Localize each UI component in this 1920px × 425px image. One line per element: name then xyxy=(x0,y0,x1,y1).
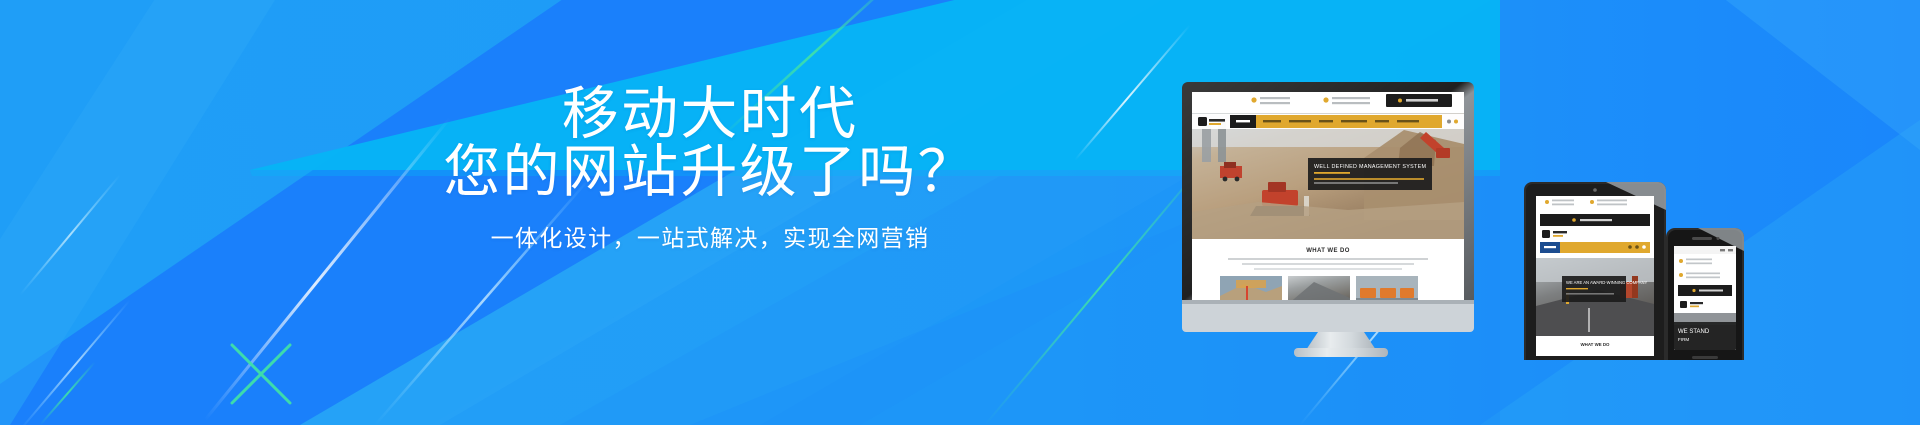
monitor-stand-neck xyxy=(1306,332,1376,350)
site-logo-sub xyxy=(1690,306,1699,308)
site-nav-item[interactable] xyxy=(1263,120,1281,122)
site-nav-item[interactable] xyxy=(1289,120,1311,122)
monitor-stand-base xyxy=(1294,348,1388,357)
site-logo-text xyxy=(1553,231,1567,233)
section-title: WHAT WE DO xyxy=(1306,248,1350,254)
hero-dozer-cab xyxy=(1268,182,1286,192)
topbar-phone-1 xyxy=(1260,97,1290,99)
topbar-hours-1 xyxy=(1332,97,1370,99)
hero-title: WE ARE AN AWARD-WINNING COMPANY xyxy=(1566,280,1647,285)
desktop-monitor: WELL DEFINED MANAGEMENT SYSTEM xyxy=(1182,82,1474,357)
site-logo-mark xyxy=(1542,230,1550,238)
hero-subtitle-2 xyxy=(1314,182,1398,184)
hero-subtitle xyxy=(1566,293,1614,295)
phone-icon xyxy=(1679,259,1683,263)
tablet-screen-content: WE ARE AN AWARD-WINNING COMPANY WHAT WE … xyxy=(1536,196,1654,356)
section-body-line xyxy=(1254,268,1402,270)
site-nav-home-label xyxy=(1236,120,1250,122)
phone-speaker-icon xyxy=(1692,237,1712,240)
hero-title: WELL DEFINED MANAGEMENT SYSTEM xyxy=(1314,164,1427,170)
quote-icon xyxy=(1398,99,1402,103)
section-body-line xyxy=(1242,263,1414,265)
clock-icon xyxy=(1679,273,1683,277)
topbar-phone-1 xyxy=(1552,200,1574,202)
tablet-camera-icon xyxy=(1593,188,1597,192)
section-body-line xyxy=(1228,258,1428,260)
request-quote-label xyxy=(1580,219,1612,221)
phone-camera-icon xyxy=(1717,237,1720,240)
signal-icon xyxy=(1720,249,1725,251)
mobile-phone: WE STAND FIRM xyxy=(1666,228,1744,360)
site-nav-item[interactable] xyxy=(1319,120,1333,122)
topbar-hours-1 xyxy=(1686,273,1720,275)
site-logo-text xyxy=(1209,119,1225,122)
section-card-accent xyxy=(1236,280,1266,288)
section-card-machine xyxy=(1380,288,1396,298)
promo-banner: 移动大时代 您的网站升级了吗？ 一体化设计，一站式解决，实现全网营销 xyxy=(0,0,1920,425)
phone-icon xyxy=(1545,200,1549,204)
hero-truck-bed xyxy=(1224,162,1236,168)
monitor-chin-edge xyxy=(1182,300,1474,304)
cart-icon[interactable] xyxy=(1642,245,1646,249)
quote-icon xyxy=(1692,289,1695,292)
topbar-hours-2 xyxy=(1686,277,1720,279)
hero-excavator-body xyxy=(1436,148,1450,158)
hero-title-underline xyxy=(1566,288,1588,289)
site-nav-item[interactable] xyxy=(1341,120,1367,122)
hero-title: WE STAND xyxy=(1678,329,1710,335)
device-mockup-illustration: WELL DEFINED MANAGEMENT SYSTEM xyxy=(1168,70,1908,360)
clock-icon xyxy=(1590,200,1594,204)
section-title: WHAT WE DO xyxy=(1581,342,1611,347)
quote-icon xyxy=(1572,218,1576,222)
site-logo-mark xyxy=(1680,301,1687,308)
hero-caption-card xyxy=(1674,322,1736,350)
phone-home-button[interactable] xyxy=(1692,356,1718,359)
search-icon[interactable] xyxy=(1628,245,1632,249)
site-nav-item[interactable] xyxy=(1397,120,1419,122)
hero-road-line xyxy=(1588,308,1590,332)
monitor-screen-content: WELL DEFINED MANAGEMENT SYSTEM xyxy=(1192,92,1464,304)
topbar-hours-1 xyxy=(1597,200,1627,202)
topbar-phone-2 xyxy=(1686,263,1712,265)
section-card-machine xyxy=(1360,288,1376,298)
monitor-chin xyxy=(1182,300,1474,332)
site-nav-item[interactable] xyxy=(1375,120,1389,122)
topbar-hours-2 xyxy=(1332,102,1370,104)
site-logo-mark xyxy=(1198,117,1207,126)
tablet-home-area xyxy=(1526,356,1664,360)
site-logo-text xyxy=(1690,302,1703,304)
phone-statusbar xyxy=(1674,246,1736,254)
topbar-phone-1 xyxy=(1686,259,1712,261)
search-icon[interactable] xyxy=(1447,120,1451,124)
site-logo-sub xyxy=(1553,235,1563,237)
site-logo-sub xyxy=(1209,123,1221,125)
menu-icon[interactable] xyxy=(1635,245,1639,249)
site-nav-home-label xyxy=(1544,246,1556,248)
hero-subtitle xyxy=(1314,178,1424,180)
cart-icon[interactable] xyxy=(1454,120,1458,124)
topbar-phone-2 xyxy=(1552,204,1574,206)
topbar-phone-2 xyxy=(1260,102,1290,104)
device-mockup-group: WELL DEFINED MANAGEMENT SYSTEM xyxy=(1168,70,1908,360)
clock-icon xyxy=(1323,97,1328,102)
battery-icon xyxy=(1728,249,1733,251)
phone-icon xyxy=(1251,97,1256,102)
request-quote-label xyxy=(1699,290,1723,292)
hero-title-underline xyxy=(1314,172,1350,174)
hero-subtitle: FIRM xyxy=(1678,337,1689,342)
tablet-device: WE ARE AN AWARD-WINNING COMPANY WHAT WE … xyxy=(1524,182,1666,360)
topbar-hours-2 xyxy=(1597,204,1627,206)
hero-caption-card xyxy=(1308,158,1432,190)
hero-truck-wheel xyxy=(1223,177,1228,182)
hero-truck-wheel xyxy=(1235,177,1240,182)
section-card-machine xyxy=(1400,288,1414,298)
request-quote-label xyxy=(1406,99,1438,102)
